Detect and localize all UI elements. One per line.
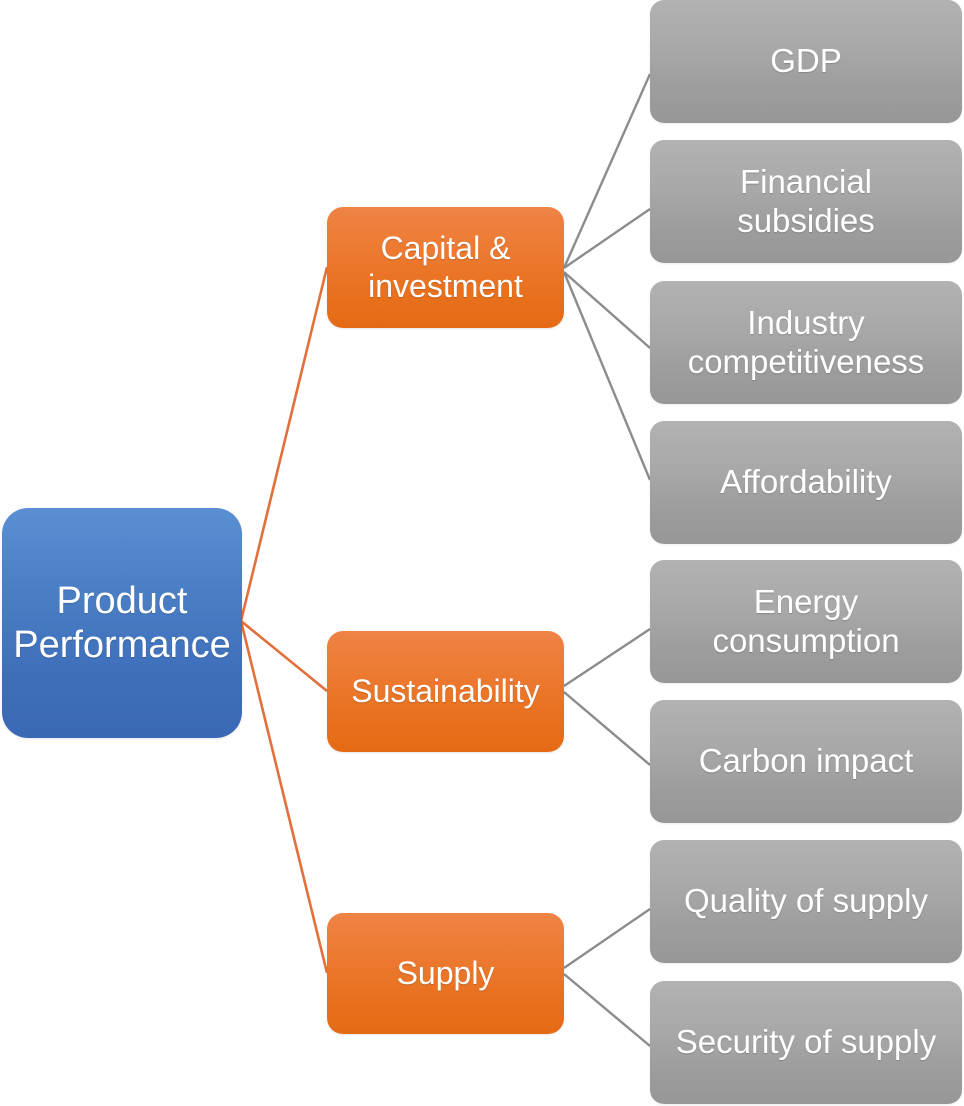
- connector-sustainability-to-carbon-impact: [564, 692, 650, 765]
- connector-capital-to-affordability: [564, 272, 650, 480]
- connector-supply-to-quality-of-supply: [564, 909, 650, 968]
- node-label-financial-subsidies: Financial subsidies: [737, 163, 875, 240]
- diagram-canvas: Product Performance Capital & investment…: [0, 0, 964, 1106]
- node-label-quality-of-supply: Quality of supply: [684, 882, 928, 920]
- node-label-sustainability: Sustainability: [351, 673, 540, 710]
- node-financial-subsidies[interactable]: Financial subsidies: [650, 140, 962, 263]
- node-label-product-performance: Product Performance: [13, 579, 231, 667]
- connector-sustainability-to-energy-consumption: [564, 629, 650, 686]
- node-label-capital-investment: Capital & investment: [368, 230, 523, 304]
- connector-root-to-capital-investment: [241, 267, 327, 621]
- node-label-supply: Supply: [397, 955, 495, 992]
- node-affordability[interactable]: Affordability: [650, 421, 962, 544]
- connector-capital-to-industry-competitiveness: [564, 272, 650, 348]
- node-product-performance[interactable]: Product Performance: [2, 508, 242, 738]
- node-label-energy-consumption: Energy consumption: [712, 583, 899, 660]
- node-label-industry-competitiveness: Industry competitiveness: [688, 304, 925, 381]
- connector-supply-to-security-of-supply: [564, 974, 650, 1046]
- node-label-gdp: GDP: [770, 42, 842, 80]
- node-industry-competitiveness[interactable]: Industry competitiveness: [650, 281, 962, 404]
- connector-root-to-sustainability: [241, 621, 327, 691]
- node-quality-of-supply[interactable]: Quality of supply: [650, 840, 962, 963]
- node-supply[interactable]: Supply: [327, 913, 564, 1034]
- node-label-security-of-supply: Security of supply: [676, 1023, 936, 1061]
- connector-capital-to-financial-subsidies: [564, 209, 650, 268]
- node-carbon-impact[interactable]: Carbon impact: [650, 700, 962, 823]
- node-energy-consumption[interactable]: Energy consumption: [650, 560, 962, 683]
- node-label-carbon-impact: Carbon impact: [699, 742, 914, 780]
- node-gdp[interactable]: GDP: [650, 0, 962, 123]
- node-label-affordability: Affordability: [720, 463, 892, 501]
- node-sustainability[interactable]: Sustainability: [327, 631, 564, 752]
- connector-capital-to-gdp: [564, 74, 650, 268]
- node-capital-investment[interactable]: Capital & investment: [327, 207, 564, 328]
- node-security-of-supply[interactable]: Security of supply: [650, 981, 962, 1104]
- connector-root-to-supply: [241, 621, 327, 973]
